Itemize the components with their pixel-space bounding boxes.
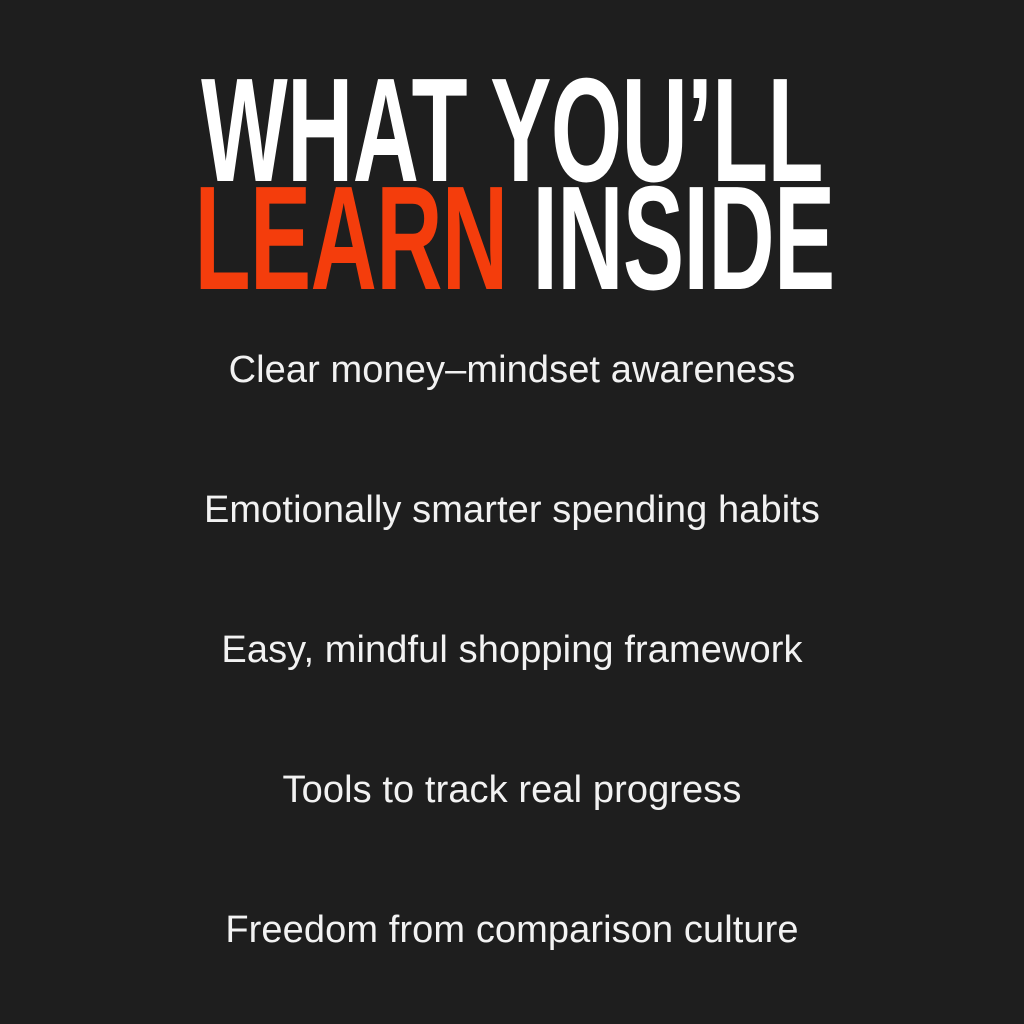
list-item: Emotionally smarter spending habits [0, 440, 1024, 580]
benefit-label-1: Clear money–mindset awareness [229, 347, 796, 393]
promo-slide: WHAT YOU’LL LEARN INSIDE Clear money–min… [0, 0, 1024, 1024]
headline-spacer [508, 156, 533, 321]
headline-line-2: LEARN INSIDE [195, 184, 830, 292]
list-item: Clear money–mindset awareness [0, 300, 1024, 440]
list-item: Easy, mindful shopping framework [0, 580, 1024, 720]
benefits-list: Clear money–mindset awareness Emotionall… [0, 300, 1024, 1000]
headline-accent-word: LEARN [195, 156, 508, 321]
benefit-label-2: Emotionally smarter spending habits [204, 487, 820, 533]
benefit-label-5: Freedom from comparison culture [225, 907, 798, 953]
benefit-label-4: Tools to track real progress [283, 767, 742, 813]
list-item: Tools to track real progress [0, 720, 1024, 860]
benefit-label-3: Easy, mindful shopping framework [221, 627, 802, 673]
page-title: WHAT YOU’LL LEARN INSIDE [0, 44, 1024, 292]
headline-trailing-word: INSIDE [532, 156, 834, 321]
list-item: Freedom from comparison culture [0, 860, 1024, 1000]
